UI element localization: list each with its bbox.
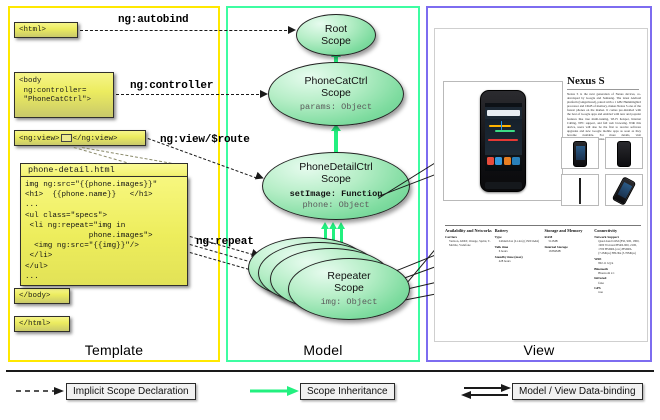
code-box-html-close: </html> xyxy=(14,316,70,332)
spec-value-infrared: false xyxy=(594,281,641,285)
thumbnail-1[interactable] xyxy=(561,137,599,169)
thumbnail-3[interactable] xyxy=(561,174,599,206)
arrowhead-controller xyxy=(260,90,268,98)
spec-column-battery: Battery Type Lithium Ion (Li-Ion) (1500 … xyxy=(495,228,542,294)
label-ng-autobind: ng:autobind xyxy=(118,14,188,26)
phone-screen xyxy=(485,103,522,171)
scope-repeater-line1: Repeater xyxy=(327,270,370,282)
spec-value-battery-type: Lithium Ion (Li-Ion) (1500 mAh) xyxy=(495,239,542,243)
scope-phonecatctrl-prop-params: params: Object xyxy=(300,102,372,113)
spec-value-bluetooth: Bluetooth 2.1 xyxy=(594,271,641,275)
inheritance-arrow-detail-to-cat xyxy=(334,130,338,153)
scope-repeater-prop-img: img: Object xyxy=(321,297,378,308)
code-box-body-close: </body> xyxy=(14,288,70,304)
inheritance-head-rep3 xyxy=(337,222,345,229)
scope-phonecatctrl-line2: Scope xyxy=(321,87,351,99)
legend-label-scope-inheritance: Scope Inheritance xyxy=(300,383,395,400)
legend-green-arrow-icon xyxy=(248,384,300,398)
spec-value-network: Quad-band GSM (850, 900, 1800, 1900 Tri-… xyxy=(594,239,641,255)
phone-app-icons xyxy=(487,157,520,166)
inheritance-head-rep1 xyxy=(321,222,329,229)
view-rendered-page: Nexus S Nexus S is the next generation o… xyxy=(434,28,648,342)
spec-value-internal-storage: 16384MB xyxy=(545,249,592,253)
spec-value-carriers: Verizon, AT&T, Orange, Sprint, T-Mobile,… xyxy=(445,239,492,247)
view-phone-description: Nexus S is the next generation of Nexus … xyxy=(567,92,641,141)
thumb-phone-icon-1 xyxy=(573,141,587,167)
legend-item-scope-inheritance: Scope Inheritance xyxy=(248,382,395,400)
ngview-slot-icon xyxy=(61,134,72,142)
scope-phonedetailctrl-prop-setimage: setImage: Function xyxy=(290,189,383,200)
connector-controller xyxy=(116,94,264,95)
scope-phonecatctrl-line1: PhoneCatCtrl xyxy=(304,75,367,87)
nexus-s-phone-image xyxy=(480,90,526,192)
spec-header-battery: Battery xyxy=(495,228,542,233)
scope-phonedetailctrl: PhoneDetailCtrl Scope setImage: Function… xyxy=(262,152,410,220)
scope-phonedetailctrl-line1: PhoneDetailCtrl xyxy=(299,161,373,173)
spec-value-gps: true xyxy=(594,290,641,294)
connector-autobind xyxy=(80,30,292,31)
view-phone-title: Nexus S xyxy=(567,75,605,87)
phone-wallpaper xyxy=(485,119,522,153)
scope-root-line1: Root xyxy=(325,23,347,35)
legend-double-arrow-icon xyxy=(460,383,512,399)
thumbnail-2[interactable] xyxy=(605,137,643,169)
detail-source-code: img ng:src="{{phone.images}}" <h1> {{pho… xyxy=(20,176,188,286)
phone-dock xyxy=(485,155,522,171)
spec-value-ram: 512MB xyxy=(545,239,592,243)
code-box-ngview: <ng:view></ng:view> xyxy=(14,130,146,146)
thumb-phone-icon-4 xyxy=(612,176,637,206)
angular-scope-diagram: Template Model View <html> <body ng:cont… xyxy=(0,0,660,420)
scope-repeater: Repeater Scope img: Object xyxy=(288,258,410,320)
spec-header-connectivity: Connectivity xyxy=(594,228,641,233)
spec-header-availability: Availability and Networks xyxy=(445,228,492,233)
label-ng-view-route: ng:view/$route xyxy=(160,134,250,146)
scope-root-line2: Scope xyxy=(321,35,351,47)
panel-model-label: Model xyxy=(228,342,418,358)
spec-header-storage: Storage and Memory xyxy=(545,228,592,233)
detail-file-title: phone-detail.html xyxy=(20,163,188,177)
panel-template-label: Template xyxy=(10,342,218,358)
spec-value-standby-time: 428 hours xyxy=(495,259,542,263)
spec-column-connectivity: Connectivity Network Support Quad-band G… xyxy=(594,228,641,294)
panel-view-label: View xyxy=(428,342,650,358)
spec-value-talk-time: 6 hours xyxy=(495,249,542,253)
scope-root: Root Scope xyxy=(296,14,376,56)
label-ng-controller: ng:controller xyxy=(130,80,213,92)
ngview-close-tag: </ng:view> xyxy=(73,135,118,143)
spec-table-rule xyxy=(445,225,641,226)
phone-search-widget xyxy=(487,110,520,116)
code-box-html-open: <html> xyxy=(14,22,78,38)
spec-column-storage: Storage and Memory RAM 512MB Internal St… xyxy=(545,228,592,294)
code-box-body-open: <body ng:controller= "PhoneCatCtrl"> xyxy=(14,72,114,118)
thumbnail-grid xyxy=(561,137,643,211)
scope-repeater-line2: Scope xyxy=(334,282,364,294)
ngview-open-tag: <ng:view> xyxy=(19,135,60,143)
legend-item-data-binding: Model / View Data-binding xyxy=(460,382,643,400)
main-phone-image-frame xyxy=(443,81,563,201)
phone-spec-table: Availability and Networks Carriers Veriz… xyxy=(445,225,641,294)
spec-value-wifi: 802.11 b/g/n xyxy=(594,261,641,265)
scope-phonecatctrl: PhoneCatCtrl Scope params: Object xyxy=(268,62,404,126)
legend-divider xyxy=(6,370,654,372)
phone-statusbar xyxy=(485,103,522,107)
scope-phonedetailctrl-prop-phone: phone: Object xyxy=(302,200,369,211)
spec-column-availability: Availability and Networks Carriers Veriz… xyxy=(445,228,492,294)
phone-home-bar xyxy=(485,182,522,189)
legend-item-implicit-scope: Implicit Scope Declaration xyxy=(14,382,196,400)
legend-label-implicit-scope: Implicit Scope Declaration xyxy=(66,383,196,400)
thumbnail-4[interactable] xyxy=(605,174,643,206)
label-ng-repeat: ng:repeat xyxy=(196,236,254,248)
thumb-phone-icon-3 xyxy=(579,178,581,204)
view-title-rule xyxy=(567,89,639,90)
thumb-phone-icon-2 xyxy=(617,141,631,167)
scope-phonedetailctrl-line2: Scope xyxy=(321,173,351,185)
legend-dashed-arrow-icon xyxy=(14,384,66,398)
inheritance-head-rep2 xyxy=(329,222,337,229)
arrowhead-autobind xyxy=(288,26,296,34)
legend-label-data-binding: Model / View Data-binding xyxy=(512,383,643,400)
